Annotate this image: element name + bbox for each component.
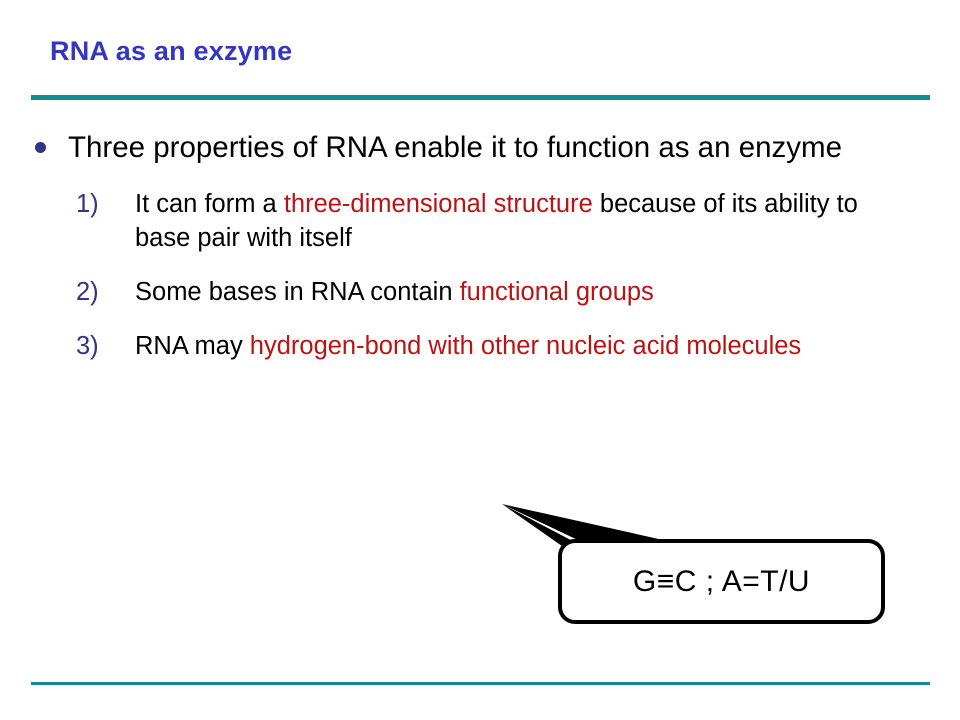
list-item-text: It can form a three-dimensional structur… [135,187,905,255]
callout-text: G≡C ; A=T/U [633,565,810,599]
main-bullet-text: Three properties of RNA enable it to fun… [68,128,868,167]
list-marker: 1) [76,187,128,221]
page-title: RNA as an exzyme [50,36,292,67]
text-segment-highlight: hydrogen-bond with other nucleic acid mo… [250,332,801,360]
list-item: 2) Some bases in RNA contain functional … [0,275,960,309]
slide-canvas: RNA as an exzyme Three properties of RNA… [0,0,960,720]
slide-body: Three properties of RNA enable it to fun… [0,128,960,363]
list-item-text: Some bases in RNA contain functional gro… [135,275,905,309]
text-segment-highlight: functional groups [460,278,654,306]
numbered-list: 1) It can form a three-dimensional struc… [0,187,960,363]
text-segment-plain: RNA may [135,332,250,360]
list-marker: 2) [76,275,128,309]
list-item-text: RNA may hydrogen-bond with other nucleic… [135,329,905,363]
bullet-dot-icon [35,142,46,153]
list-item: 1) It can form a three-dimensional struc… [0,187,960,255]
divider-top [31,95,930,100]
divider-bottom [31,682,930,685]
list-marker: 3) [76,329,128,363]
text-segment-plain: It can form a [135,190,284,218]
text-segment-highlight: three-dimensional structure [284,190,593,218]
list-item: 3) RNA may hydrogen-bond with other nucl… [0,329,960,363]
list-item-main: Three properties of RNA enable it to fun… [0,128,960,167]
callout-box: G≡C ; A=T/U [558,539,885,624]
callout-annotation: G≡C ; A=T/U [460,492,900,637]
text-segment-plain: Some bases in RNA contain [135,278,460,306]
